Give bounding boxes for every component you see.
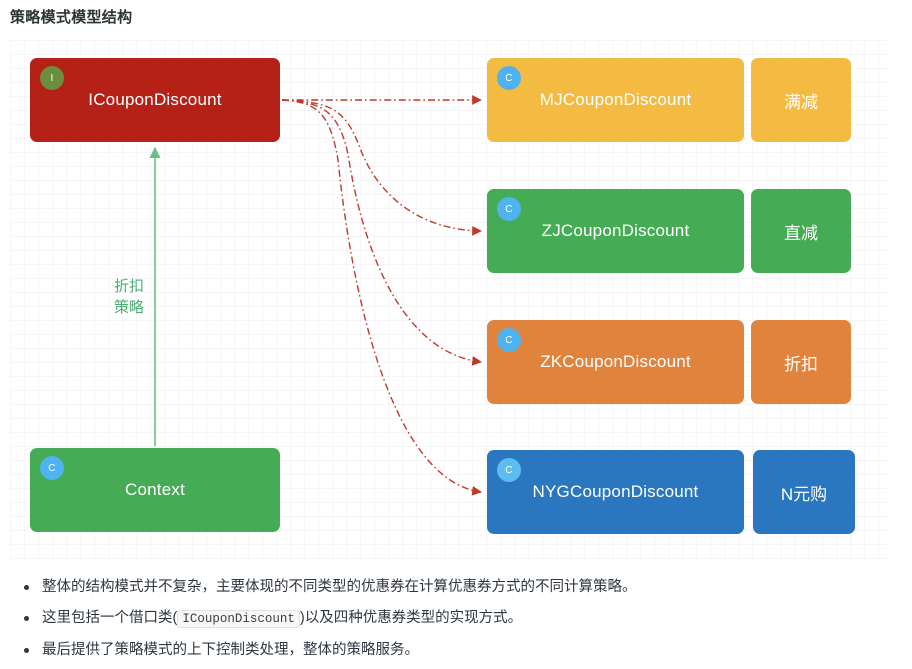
node-context[interactable]: C Context	[30, 448, 280, 532]
tag-nyuangou[interactable]: N元购	[753, 450, 855, 534]
edge-label-discount-strategy: 折扣 策略	[101, 276, 157, 318]
tag-label: 折扣	[784, 350, 818, 375]
edge-implements-zj	[282, 100, 481, 231]
interface-badge-icon: I	[40, 66, 64, 90]
node-zkcoupondiscount[interactable]: C ZKCouponDiscount	[487, 320, 744, 404]
tag-manjian[interactable]: 满减	[751, 58, 851, 142]
list-item: 整体的结构模式并不复杂，主要体现的不同类型的优惠券在计算优惠券方式的不同计算策略…	[42, 572, 912, 603]
class-badge-icon: C	[40, 456, 64, 480]
node-label: ZJCouponDiscount	[536, 221, 696, 241]
edge-implements-nyg	[282, 100, 481, 492]
node-icoupondiscount[interactable]: I ICouponDiscount	[30, 58, 280, 142]
tag-label: N元购	[781, 480, 827, 505]
notes-list: 整体的结构模式并不复杂，主要体现的不同类型的优惠券在计算优惠券方式的不同计算策略…	[0, 572, 912, 666]
node-label: ICouponDiscount	[82, 90, 227, 110]
class-badge-icon: C	[497, 197, 521, 221]
tag-label: 直减	[784, 219, 818, 244]
list-item: 最后提供了策略模式的上下控制类处理，整体的策略服务。	[42, 635, 912, 666]
edge-implements-zk	[282, 100, 481, 362]
class-diagram: 折扣 策略 I ICouponDiscount C MJCouponDiscou…	[0, 36, 912, 566]
node-label: MJCouponDiscount	[534, 90, 698, 110]
node-mjcoupondiscount[interactable]: C MJCouponDiscount	[487, 58, 744, 142]
class-badge-icon: C	[497, 458, 521, 482]
node-label: Context	[119, 480, 191, 500]
class-badge-icon: C	[497, 328, 521, 352]
list-item: 这里包括一个借口类(ICouponDiscount)以及四种优惠券类型的实现方式…	[42, 603, 912, 635]
class-badge-icon: C	[497, 66, 521, 90]
edge-label-line-1: 折扣	[101, 276, 157, 297]
edge-label-line-2: 策略	[101, 297, 157, 318]
tag-label: 满减	[784, 88, 818, 113]
node-nygcoupondiscount[interactable]: C NYGCouponDiscount	[487, 450, 744, 534]
node-label: ZKCouponDiscount	[534, 352, 697, 372]
tag-zhekou[interactable]: 折扣	[751, 320, 851, 404]
inline-code: ICouponDiscount	[177, 610, 300, 628]
tag-zhijian[interactable]: 直减	[751, 189, 851, 273]
node-zjcoupondiscount[interactable]: C ZJCouponDiscount	[487, 189, 744, 273]
page-title: 策略模式模型结构	[10, 6, 132, 27]
node-label: NYGCouponDiscount	[527, 482, 705, 502]
notes-section: 整体的结构模式并不复杂，主要体现的不同类型的优惠券在计算优惠券方式的不同计算策略…	[0, 572, 912, 666]
